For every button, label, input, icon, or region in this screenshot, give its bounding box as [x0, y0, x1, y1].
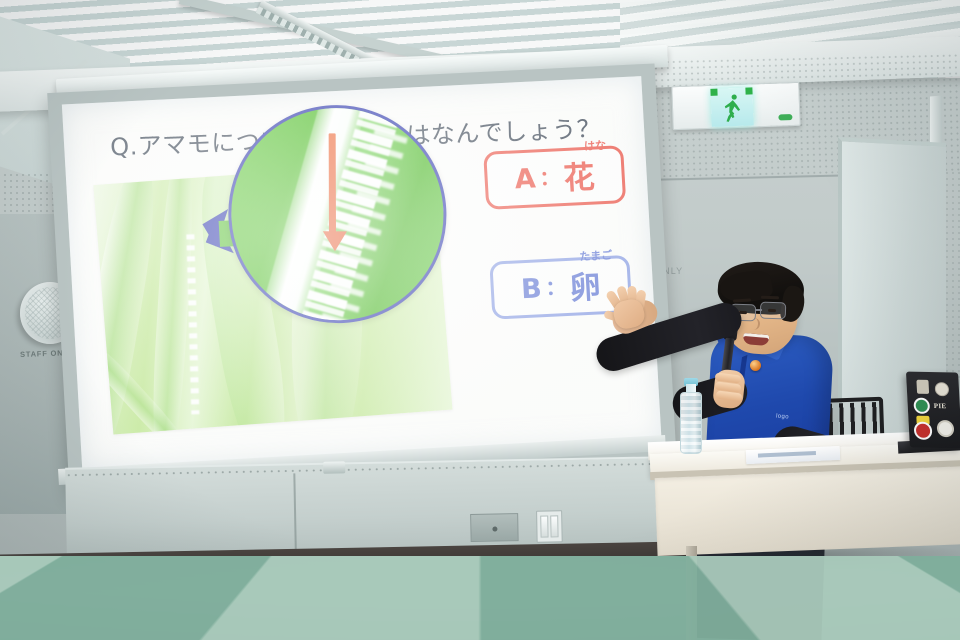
pointer-arrow-head-icon — [323, 231, 347, 251]
laptop-sticker — [914, 422, 933, 440]
running-man-icon — [722, 93, 745, 124]
projection-screen-assembly: Q.アマモについているこれはなんでしょう？ — [50, 48, 690, 468]
projected-slide: Q.アマモについているこれはなんでしょう？ — [62, 76, 662, 470]
emergency-exit-sign — [671, 82, 800, 130]
laptop-sticker — [916, 380, 929, 394]
exit-sign-indicator — [778, 114, 792, 120]
water-bottle[interactable] — [680, 378, 702, 454]
wall-access-plate — [470, 513, 519, 542]
light-switch-plate[interactable] — [536, 510, 563, 542]
laptop-sticker — [935, 382, 950, 396]
bottle-body — [680, 392, 702, 454]
panel-seam — [293, 473, 296, 549]
presenter-pointing-hand — [606, 286, 650, 328]
answer-b-colon: ： — [543, 277, 568, 298]
answer-a-word: 花 — [563, 162, 596, 194]
table-leg — [686, 546, 697, 640]
exit-corner-marker — [710, 89, 717, 96]
presenter-eye-right — [768, 309, 776, 313]
answer-a-letter: A — [514, 165, 536, 193]
exit-sign-lightbox — [710, 87, 753, 126]
answer-a-colon: ： — [537, 167, 562, 188]
screen-frame: Q.アマモについているこれはなんでしょう？ — [47, 63, 677, 492]
magnifier-circle — [222, 100, 452, 328]
laptop-with-stickers[interactable]: PIE — [906, 372, 960, 449]
lapel-pin-badge — [750, 360, 761, 371]
light-switch-toggle[interactable] — [550, 515, 558, 537]
exit-corner-marker — [745, 87, 752, 94]
glasses-bridge — [755, 309, 762, 311]
pointer-arrow-shaft — [329, 133, 336, 239]
light-switch-toggle[interactable] — [540, 516, 548, 538]
laptop-sticker-text: PIE — [934, 402, 947, 410]
presentation-scene-screenshot: STAFF ONLY ONLY Q.アマモについているこれはなんでしょう？ — [0, 0, 960, 640]
laptop-sticker — [937, 420, 955, 437]
answer-b-letter: B — [520, 275, 542, 303]
answer-b-word: 卵 — [569, 272, 602, 304]
panel-latch[interactable] — [323, 461, 345, 473]
laptop-sticker — [913, 398, 930, 414]
seed-row-detail — [186, 234, 199, 414]
shirt-chest-logo: logo — [776, 414, 789, 421]
table-modesty-panel — [655, 466, 960, 556]
answer-option-a[interactable]: はな A ： 花 — [483, 145, 626, 210]
